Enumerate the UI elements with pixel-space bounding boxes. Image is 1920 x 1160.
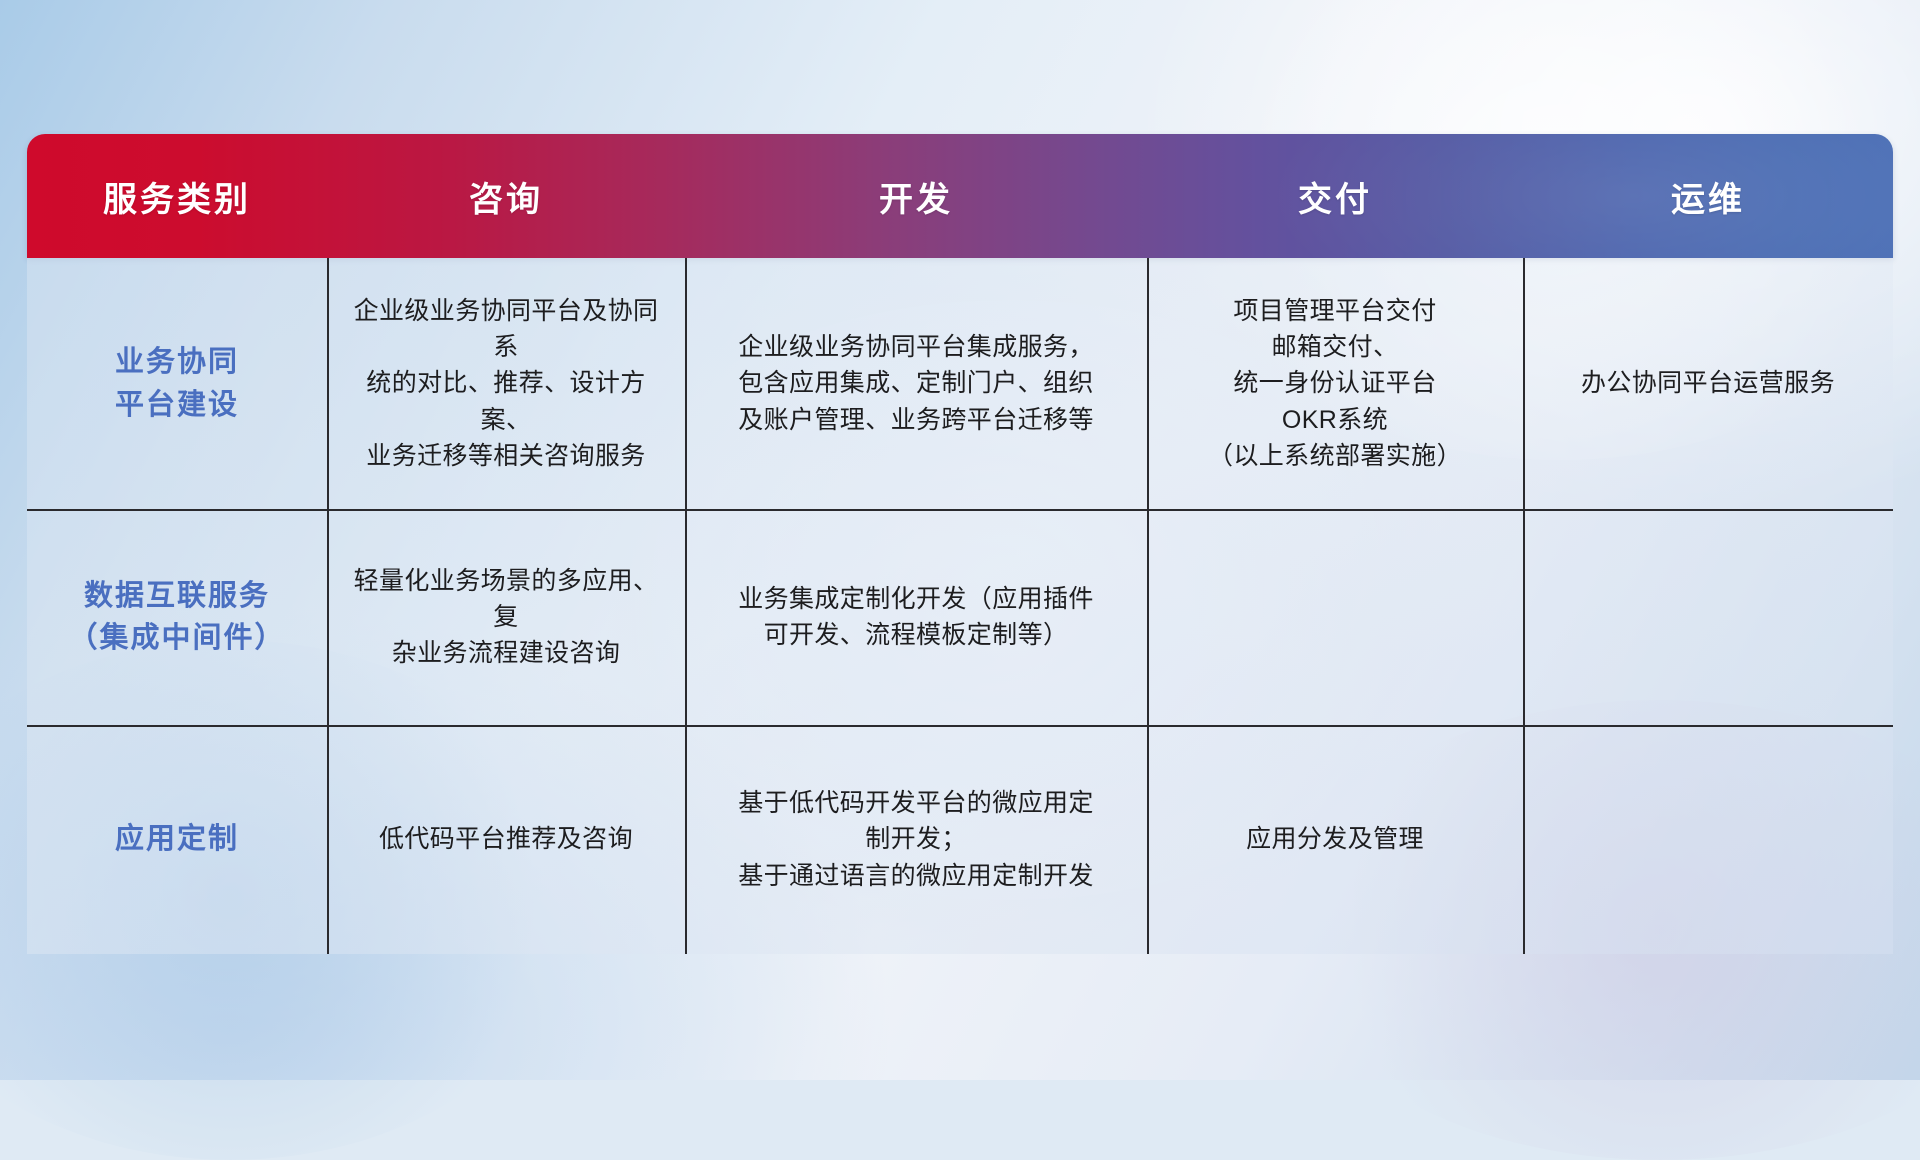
cell-consulting-text: 低代码平台推荐及咨询 xyxy=(379,821,633,857)
page-root: 服务类别 咨询 开发 交付 运维 业务协同 平台建设 企业级业务协同平台及协同系… xyxy=(0,0,1920,1080)
row-divider xyxy=(27,725,1893,727)
cell-development: 基于低代码开发平台的微应用定 制开发； 基于通过语言的微应用定制开发 xyxy=(685,725,1147,954)
cell-operations: 办公协同平台运营服务 xyxy=(1523,258,1893,509)
cell-delivery-text: 项目管理平台交付 邮箱交付、 统一身份认证平台 OKR系统 （以上系统部署实施） xyxy=(1208,293,1462,474)
column-header-consulting-label: 咨询 xyxy=(469,172,543,221)
cell-consulting-text: 轻量化业务场景的多应用、复 杂业务流程建设咨询 xyxy=(341,563,671,672)
cell-development-text: 基于低代码开发平台的微应用定 制开发； 基于通过语言的微应用定制开发 xyxy=(738,785,1094,894)
cell-delivery xyxy=(1147,509,1523,725)
row-label-text: 应用定制 xyxy=(115,818,239,860)
column-header-category: 服务类别 xyxy=(27,134,327,258)
cell-operations-text: 办公协同平台运营服务 xyxy=(1581,365,1835,401)
table-row: 数据互联服务 （集成中间件） 轻量化业务场景的多应用、复 杂业务流程建设咨询 业… xyxy=(27,509,1893,725)
cell-development: 业务集成定制化开发（应用插件 可开发、流程模板定制等） xyxy=(685,509,1147,725)
service-matrix-table: 服务类别 咨询 开发 交付 运维 业务协同 平台建设 企业级业务协同平台及协同系… xyxy=(27,134,1893,954)
cell-consulting: 低代码平台推荐及咨询 xyxy=(327,725,685,954)
row-label-text: 业务协同 平台建设 xyxy=(115,341,239,425)
column-header-operations-label: 运维 xyxy=(1671,172,1745,221)
cell-development-text: 业务集成定制化开发（应用插件 可开发、流程模板定制等） xyxy=(738,581,1094,654)
column-header-delivery: 交付 xyxy=(1147,134,1523,258)
cell-development-text: 企业级业务协同平台集成服务， 包含应用集成、定制门户、组织 及账户管理、业务跨平… xyxy=(738,329,1094,438)
cell-consulting: 企业级业务协同平台及协同系 统的对比、推荐、设计方案、 业务迁移等相关咨询服务 xyxy=(327,258,685,509)
column-header-development-label: 开发 xyxy=(879,172,953,221)
column-header-delivery-label: 交付 xyxy=(1298,172,1372,221)
row-label-cell: 数据互联服务 （集成中间件） xyxy=(27,509,327,725)
table-row: 应用定制 低代码平台推荐及咨询 基于低代码开发平台的微应用定 制开发； 基于通过… xyxy=(27,725,1893,954)
column-header-operations: 运维 xyxy=(1523,134,1893,258)
row-label-text: 数据互联服务 （集成中间件） xyxy=(68,575,285,659)
cell-delivery: 项目管理平台交付 邮箱交付、 统一身份认证平台 OKR系统 （以上系统部署实施） xyxy=(1147,258,1523,509)
cell-delivery: 应用分发及管理 xyxy=(1147,725,1523,954)
cell-operations xyxy=(1523,509,1893,725)
row-divider xyxy=(27,509,1893,511)
row-label-cell: 应用定制 xyxy=(27,725,327,954)
column-header-development: 开发 xyxy=(685,134,1147,258)
column-header-category-label: 服务类别 xyxy=(103,172,251,221)
cell-delivery-text: 应用分发及管理 xyxy=(1246,821,1424,857)
cell-development: 企业级业务协同平台集成服务， 包含应用集成、定制门户、组织 及账户管理、业务跨平… xyxy=(685,258,1147,509)
table-body: 业务协同 平台建设 企业级业务协同平台及协同系 统的对比、推荐、设计方案、 业务… xyxy=(27,258,1893,954)
cell-consulting-text: 企业级业务协同平台及协同系 统的对比、推荐、设计方案、 业务迁移等相关咨询服务 xyxy=(341,293,671,474)
table-row: 业务协同 平台建设 企业级业务协同平台及协同系 统的对比、推荐、设计方案、 业务… xyxy=(27,258,1893,509)
row-label-cell: 业务协同 平台建设 xyxy=(27,258,327,509)
column-header-consulting: 咨询 xyxy=(327,134,685,258)
cell-consulting: 轻量化业务场景的多应用、复 杂业务流程建设咨询 xyxy=(327,509,685,725)
table-header-row: 服务类别 咨询 开发 交付 运维 xyxy=(27,134,1893,258)
cell-operations xyxy=(1523,725,1893,954)
